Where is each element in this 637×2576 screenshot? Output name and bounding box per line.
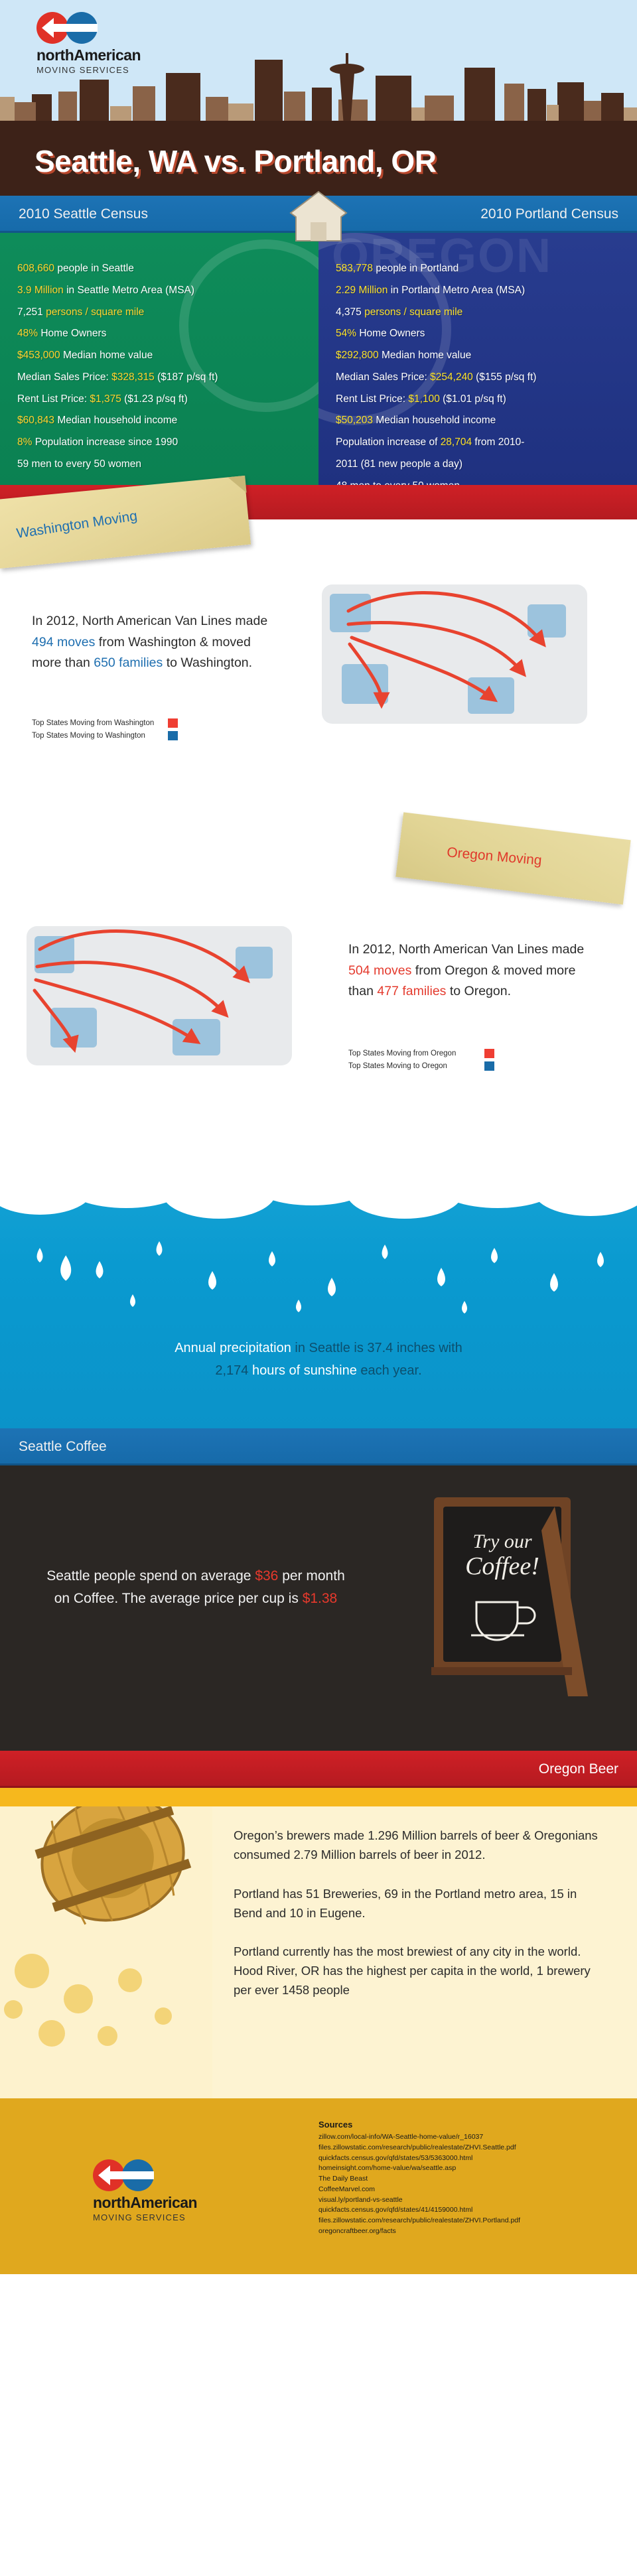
source-item: quickfacts.census.gov/qfd/states/41/4159… <box>318 2205 520 2216</box>
or-text-pre: In 2012, North American Van Lines made <box>348 942 584 957</box>
census-line: 59 men to every 50 women <box>17 459 301 470</box>
census-line-rest: ($1.01 p/sq ft) <box>440 393 506 405</box>
stripe-circle-icon <box>66 12 98 44</box>
census-line-pre: Population increase of <box>336 437 441 448</box>
census-body: 608,660 people in Seattle3.9 Million in … <box>0 233 637 485</box>
page-footer: northAmerican MOVING SERVICES Sources zi… <box>0 2098 637 2274</box>
legend-label: Top States Moving to Washington <box>32 732 168 740</box>
census-line-pre: 2011 (81 new people a day) <box>336 458 462 470</box>
census-line: 3.9 Million in Seattle Metro Area (MSA) <box>17 285 301 296</box>
legend-swatch-blue-icon <box>168 731 178 740</box>
census-line-rest: Home Owners <box>38 328 106 339</box>
tape-fold-corner <box>228 476 246 494</box>
census-line: Rent List Price: $1,100 ($1.01 p/sq ft) <box>336 394 620 405</box>
house-icon <box>288 189 349 243</box>
source-item: files.zillowstatic.com/research/public/r… <box>318 2143 520 2153</box>
beer-section: Oregon’s brewers made 1.296 Million barr… <box>0 1806 637 2098</box>
census-highlight-value: $60,843 <box>17 415 54 426</box>
census-highlight-value: $50,203 <box>336 415 373 426</box>
precipitation-text: Annual precipitation in Seattle is 37.4 … <box>0 1337 637 1383</box>
gold-divider-bar <box>0 1788 637 1806</box>
beer-paragraph: Portland currently has the most brewiest… <box>234 1942 599 2000</box>
census-line-pre: 59 men to every 50 women <box>17 458 141 470</box>
page-title: Seattle, WA vs. Portland, OR <box>35 143 436 179</box>
legend-label: Top States Moving from Oregon <box>348 1050 484 1057</box>
arrow-circle-icon <box>36 12 68 44</box>
census-highlight-value: 54% <box>336 328 356 339</box>
census-line: $60,843 Median household income <box>17 415 301 426</box>
census-line-rest: Median home value <box>379 350 472 361</box>
sunshine-label: hours of sunshine <box>248 1363 356 1378</box>
sunshine-hours: 2,174 <box>215 1363 248 1378</box>
source-item: visual.ly/portland-vs-seattle <box>318 2195 520 2206</box>
board-line-1: Try our <box>472 1530 532 1552</box>
census-line-rest: people in Seattle <box>54 263 134 274</box>
census-highlight-value: 608,660 <box>17 263 54 274</box>
census-line-rest: Median household income <box>373 415 496 426</box>
wa-text-post: to Washington. <box>163 655 252 670</box>
census-line: 608,660 people in Seattle <box>17 263 301 274</box>
legend-row: Top States Moving from Oregon <box>348 1049 494 1058</box>
footer-brand-logo: northAmerican MOVING SERVICES <box>93 2159 219 2222</box>
portland-census-header: 2010 Portland Census <box>318 196 637 233</box>
census-highlight-value: $1,100 <box>408 393 439 405</box>
census-highlight-value: persons / square mile <box>364 306 462 318</box>
oregon-tape-label: Oregon Moving <box>395 812 630 904</box>
page-header: northAmerican MOVING SERVICES <box>0 0 637 126</box>
sources-block: Sources zillow.com/local-info/WA-Seattle… <box>318 2120 520 2237</box>
arrow-circle-icon <box>93 2159 125 2191</box>
census-line: $292,800 Median home value <box>336 350 620 361</box>
beer-paragraph: Oregon’s brewers made 1.296 Million barr… <box>234 1826 599 1865</box>
raindrops-illustration <box>0 1221 637 1334</box>
legend-label: Top States Moving to Oregon <box>348 1062 484 1070</box>
washington-legend: Top States Moving from Washington Top St… <box>32 718 178 744</box>
seattle-census-label: 2010 Seattle Census <box>19 206 148 222</box>
legend-swatch-red-icon <box>484 1049 494 1058</box>
census-highlight-value: 48% <box>17 328 38 339</box>
source-item: quickfacts.census.gov/qfd/states/53/5363… <box>318 2153 520 2164</box>
census-line-pre: 4,375 <box>336 306 364 318</box>
precip-inches: in Seattle is 37.4 inches with <box>291 1341 462 1355</box>
census-line-rest: Population increase since 1990 <box>32 437 178 448</box>
washington-body-text: In 2012, North American Van Lines made 4… <box>32 611 271 674</box>
brand-name: northAmerican <box>93 2194 219 2212</box>
census-highlight-value: $1,375 <box>90 393 121 405</box>
census-line-rest: people in Portland <box>373 263 459 274</box>
sources-title: Sources <box>318 2120 520 2130</box>
cloud-illustration <box>0 1148 637 1228</box>
census-line: 54% Home Owners <box>336 328 620 339</box>
census-line-rest: in Portland Metro Area (MSA) <box>388 285 525 296</box>
oregon-tape-text: Oregon Moving <box>446 845 542 868</box>
portland-census-column: OREGON 583,778 people in Portland2.29 Mi… <box>318 233 637 485</box>
coffee-section-header: Seattle Coffee <box>0 1428 637 1465</box>
census-line-rest: Median home value <box>60 350 153 361</box>
census-line-rest: Median household income <box>54 415 177 426</box>
census-line: $50,203 Median household income <box>336 415 620 426</box>
or-families-value: 477 families <box>377 984 446 998</box>
census-line: 7,251 persons / square mile <box>17 307 301 318</box>
census-line: 2011 (81 new people a day) <box>336 459 620 470</box>
washington-us-map <box>302 565 614 750</box>
logo-marks <box>93 2159 219 2191</box>
census-line: 583,778 people in Portland <box>336 263 620 274</box>
census-highlight-value: 583,778 <box>336 263 373 274</box>
census-line-rest: in Seattle Metro Area (MSA) <box>64 285 194 296</box>
source-item: The Daily Beast <box>318 2174 520 2185</box>
beer-paragraph: Portland has 51 Breweries, 69 in the Por… <box>234 1885 599 1923</box>
beer-barrel-illustration <box>0 1806 219 2064</box>
source-item: oregoncraftbeer.org/facts <box>318 2226 520 2237</box>
precip-label: Annual precipitation <box>175 1341 291 1355</box>
washington-tape-text: Washington Moving <box>15 508 138 542</box>
census-line-pre: Rent List Price: <box>17 393 90 405</box>
census-highlight-value: persons / square mile <box>46 306 144 318</box>
census-highlight-value: $292,800 <box>336 350 379 361</box>
census-highlight-value: 3.9 Million <box>17 285 64 296</box>
census-line: 8% Population increase since 1990 <box>17 437 301 448</box>
seattle-census-header: 2010 Seattle Census <box>0 196 318 233</box>
oregon-body-text: In 2012, North American Van Lines made 5… <box>348 939 594 1002</box>
census-highlight-value: $453,000 <box>17 350 60 361</box>
census-highlight-value: $254,240 <box>430 372 473 383</box>
census-line: 2.29 Million in Portland Metro Area (MSA… <box>336 285 620 296</box>
board-line-2: Coffee! <box>465 1552 539 1580</box>
beer-header-label: Oregon Beer <box>539 1761 618 1777</box>
source-item: CoffeeMarvel.com <box>318 2185 520 2195</box>
seattle-skyline-illustration <box>0 48 637 126</box>
census-header-row: 2010 Seattle Census 2010 Portland Census <box>0 196 637 233</box>
washington-moving-section: Washington Moving In 2 <box>0 485 637 817</box>
coffee-monthly-spend: $36 <box>255 1568 278 1584</box>
legend-swatch-red-icon <box>168 718 178 728</box>
brand-tagline: MOVING SERVICES <box>93 2212 219 2222</box>
source-item: homeinsight.com/home-value/wa/seattle.as… <box>318 2163 520 2174</box>
census-line-pre: Rent List Price: <box>336 393 408 405</box>
census-highlight-value: 8% <box>17 437 32 448</box>
census-line: Median Sales Price: $328,315 ($187 p/sq … <box>17 372 301 383</box>
precipitation-section: Annual precipitation in Seattle is 37.4 … <box>0 1148 637 1428</box>
census-highlight-value: $328,315 <box>111 372 155 383</box>
oregon-legend: Top States Moving from Oregon Top States… <box>348 1049 494 1074</box>
legend-row: Top States Moving from Washington <box>32 718 178 728</box>
wa-text-pre: In 2012, North American Van Lines made <box>32 614 267 628</box>
portland-census-label: 2010 Portland Census <box>480 206 618 222</box>
census-line-rest: ($155 p/sq ft) <box>473 372 537 383</box>
census-line-pre: 7,251 <box>17 306 46 318</box>
census-line: 48% Home Owners <box>17 328 301 339</box>
census-line: Population increase of 28,704 from 2010- <box>336 437 620 448</box>
census-line: Median Sales Price: $254,240 ($155 p/sq … <box>336 372 620 383</box>
census-line: 48 men to every 50 women <box>336 481 620 485</box>
census-line: Rent List Price: $1,375 ($1.23 p/sq ft) <box>17 394 301 405</box>
coffee-a-board-sign: Try our Coffee! <box>425 1491 597 1716</box>
wa-families-value: 650 families <box>94 655 163 670</box>
census-line-rest: ($187 p/sq ft) <box>155 372 218 383</box>
census-line-rest: from 2010- <box>472 437 524 448</box>
sunshine-suffix: each year. <box>357 1363 422 1378</box>
coffee-body-text: Seattle people spend on average $36 per … <box>40 1565 352 1610</box>
or-moves-value: 504 moves <box>348 963 411 978</box>
beer-section-header: Oregon Beer <box>0 1751 637 1788</box>
legend-label: Top States Moving from Washington <box>32 719 168 727</box>
census-line-rest: ($1.23 p/sq ft) <box>121 393 188 405</box>
coffee-cup-price: $1.38 <box>303 1591 338 1606</box>
wa-moves-value: 494 moves <box>32 635 95 649</box>
legend-row: Top States Moving to Washington <box>32 731 178 740</box>
or-text-post: to Oregon. <box>446 984 511 998</box>
coffee-header-label: Seattle Coffee <box>19 1439 107 1455</box>
legend-row: Top States Moving to Oregon <box>348 1061 494 1071</box>
census-line: 4,375 persons / square mile <box>336 307 620 318</box>
main-title-bar: Seattle, WA vs. Portland, OR <box>0 126 637 196</box>
census-line-pre: 48 men to every 50 women <box>336 480 460 485</box>
source-item: zillow.com/local-info/WA-Seattle-home-va… <box>318 2132 520 2143</box>
beer-bubbles-icon <box>4 1954 172 2047</box>
logo-marks <box>36 12 163 44</box>
census-line-pre: Median Sales Price: <box>336 372 430 383</box>
oregon-moving-section: Oregon Moving In 2012, <box>0 817 637 1148</box>
coffee-t1: Seattle people spend on average <box>46 1568 255 1584</box>
census-line-rest: Home Owners <box>356 328 425 339</box>
beer-text-panel: Oregon’s brewers made 1.296 Million barr… <box>212 1806 637 2098</box>
census-highlight-value: 28,704 <box>441 437 472 448</box>
source-item: files.zillowstatic.com/research/public/r… <box>318 2216 520 2226</box>
census-line: $453,000 Median home value <box>17 350 301 361</box>
legend-swatch-blue-icon <box>484 1061 494 1071</box>
oregon-us-map <box>7 903 318 1095</box>
census-highlight-value: 2.29 Million <box>336 285 388 296</box>
stripe-circle-icon <box>122 2159 154 2191</box>
coffee-section: Seattle people spend on average $36 per … <box>0 1465 637 1751</box>
census-line-pre: Median Sales Price: <box>17 372 111 383</box>
seattle-census-column: 608,660 people in Seattle3.9 Million in … <box>0 233 318 485</box>
